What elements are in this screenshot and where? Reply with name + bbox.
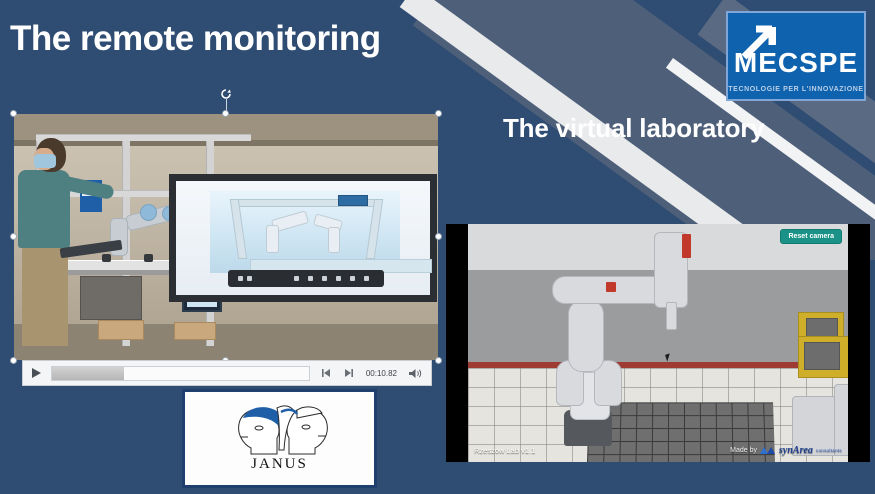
presentation-slide: The remote monitoring The virtual labora… [0, 0, 875, 494]
cardboard-box-2 [174, 322, 216, 340]
mecspe-tagline: TECNOLOGIE PER L'INNOVAZIONE [728, 86, 864, 93]
mecspe-wordmark: MECSPE [728, 47, 864, 79]
video-thumbnail[interactable] [14, 114, 438, 360]
person-legs [22, 246, 68, 346]
page-title: The remote monitoring [10, 19, 381, 59]
virtual-lab-viewport[interactable]: Reset camera Rzeszow Lab v1.1 Made by sy… [446, 224, 870, 462]
play-button[interactable] [23, 367, 49, 379]
step-forward-icon [343, 368, 354, 378]
video-object[interactable] [14, 114, 438, 360]
display-toolbar [228, 270, 384, 287]
janus-wordmark: JANUS [185, 456, 374, 473]
resize-handle-e[interactable] [435, 233, 442, 240]
floor-cabinet [80, 276, 142, 320]
credit-prefix: Made by [730, 447, 757, 454]
credit-brand: synArea [779, 445, 813, 456]
robot-tool-tip [666, 302, 677, 330]
robot-joint-1 [140, 204, 157, 221]
mecspe-logo: MECSPE TECNOLOGIE PER L'INNOVAZIONE [726, 11, 866, 101]
play-icon [31, 367, 42, 379]
volume-button[interactable] [403, 368, 431, 379]
robot-brand-mark [606, 282, 616, 292]
virtual-lab-version-label: Rzeszow Lab v1.1 [474, 446, 535, 455]
resize-handle-nw[interactable] [10, 110, 17, 117]
digital-twin-render [210, 191, 400, 273]
wall-display [169, 174, 437, 302]
virtual-lab-credit: Made by synArea consultants [730, 445, 842, 456]
step-backward-button[interactable] [316, 368, 338, 378]
volume-icon [408, 368, 422, 379]
reset-camera-button[interactable]: Reset camera [780, 229, 842, 244]
video-progress-bar[interactable] [51, 366, 310, 381]
resize-handle-ne[interactable] [435, 110, 442, 117]
video-controls-bar[interactable]: 00:10.82 [22, 360, 432, 386]
cardboard-box-1 [98, 320, 144, 340]
video-time: 00:10.82 [360, 369, 403, 378]
resize-handle-sw[interactable] [10, 357, 17, 364]
wall-display-screen [176, 181, 430, 295]
synarea-logo-icon [760, 446, 776, 455]
janus-two-faces-icon [185, 398, 380, 460]
rotate-icon[interactable] [220, 88, 232, 100]
credit-brand-sub: consultants [816, 448, 842, 453]
face-mask [34, 154, 56, 168]
janus-logo: JANUS [182, 389, 377, 488]
rack-panel-2 [804, 342, 840, 370]
bench-fixture-1 [102, 254, 111, 262]
section-title-virtual-laboratory: The virtual laboratory [503, 113, 764, 144]
resize-handle-n[interactable] [222, 110, 229, 117]
resize-handle-w[interactable] [10, 233, 17, 240]
step-forward-button[interactable] [338, 368, 360, 378]
resize-handle-se[interactable] [435, 357, 442, 364]
virtual-lab-scene[interactable]: Reset camera Rzeszow Lab v1.1 Made by sy… [468, 224, 848, 462]
robot-wrist-accent [682, 234, 691, 258]
video-progress-fill [52, 367, 124, 380]
robot-lower-arm [568, 300, 604, 372]
step-backward-icon [321, 368, 332, 378]
bench-fixture-2 [144, 254, 153, 262]
